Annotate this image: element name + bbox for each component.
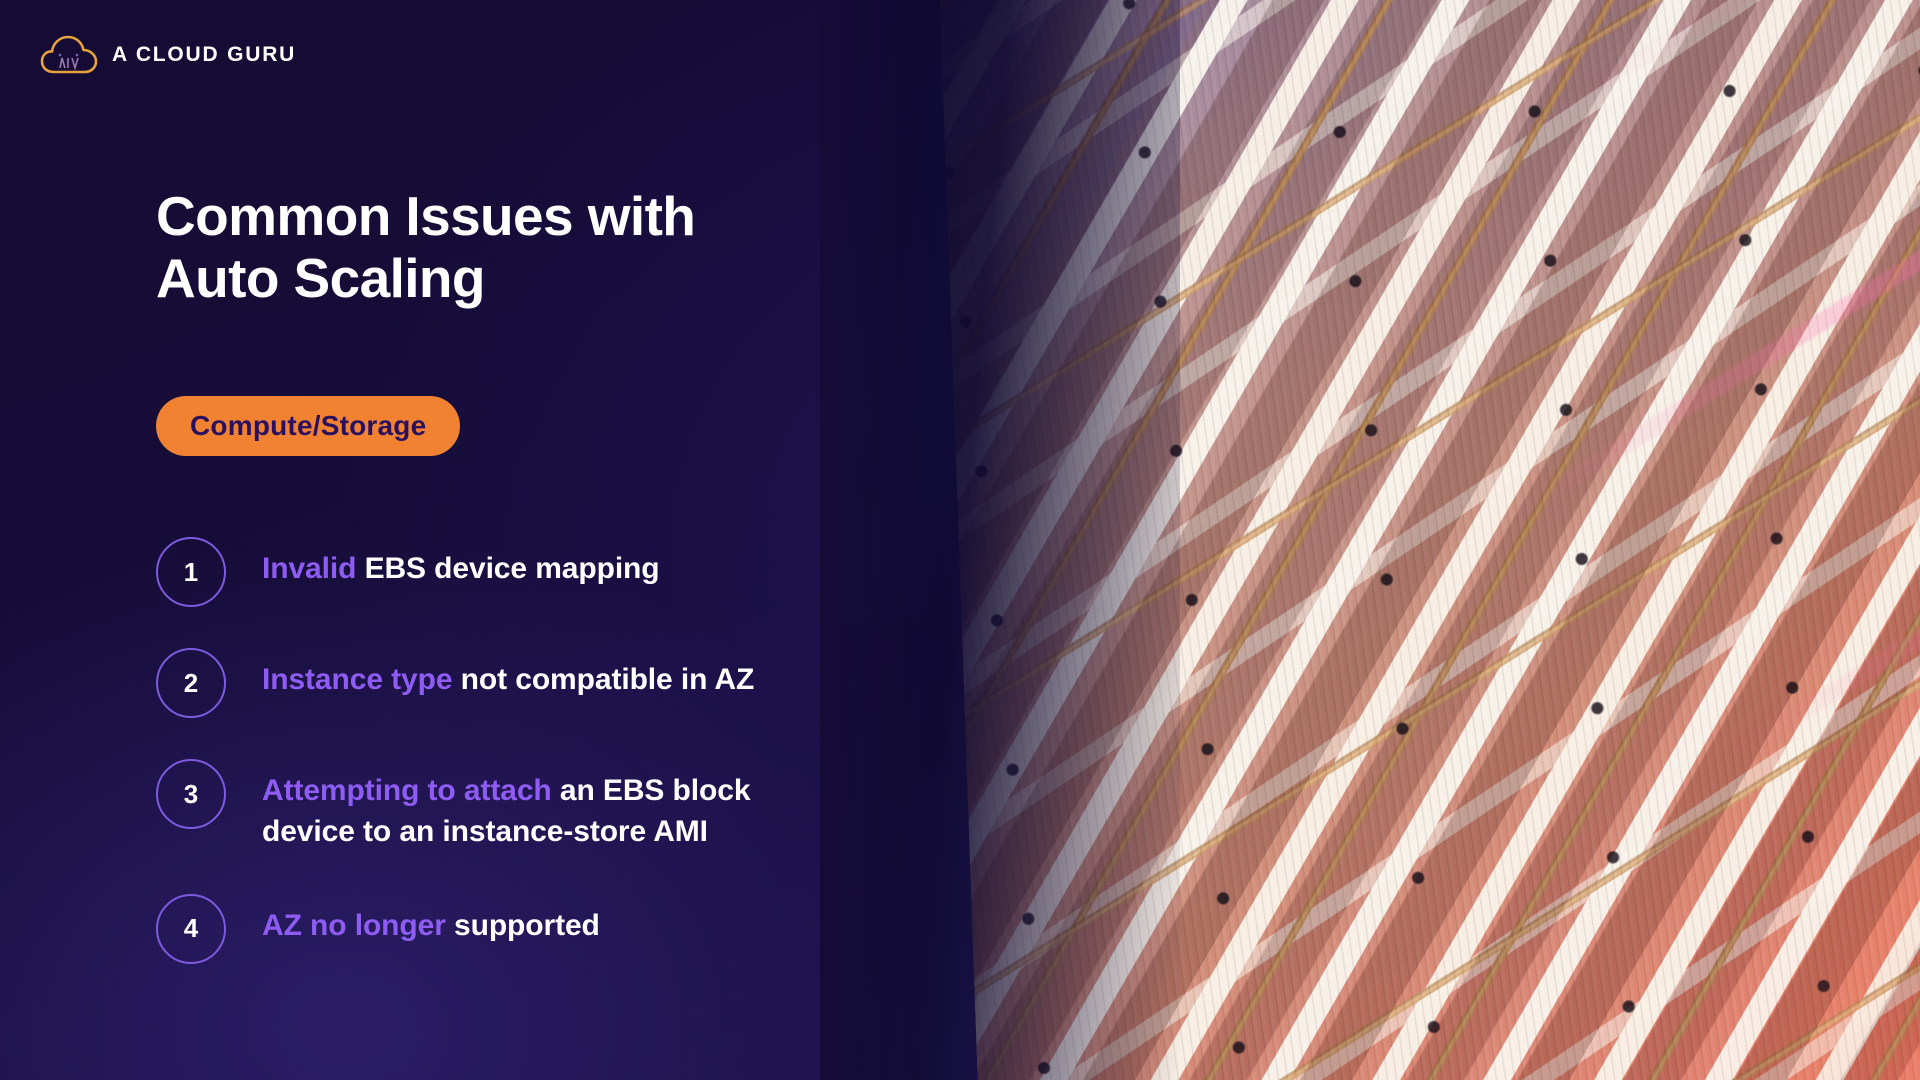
slide-content: Common Issues with Auto Scaling Compute/…: [156, 0, 916, 1080]
list-item-number: 3: [156, 759, 226, 829]
list-item: 4 AZ no longer supported: [156, 894, 916, 964]
list-item: 2 Instance type not compatible in AZ: [156, 648, 916, 718]
list-item: 3 Attempting to attach an EBS block devi…: [156, 759, 916, 853]
list-item-highlight: AZ no longer: [262, 909, 446, 942]
list-item-number: 4: [156, 894, 226, 964]
category-badge[interactable]: Compute/Storage: [156, 396, 460, 456]
issues-list: 1 Invalid EBS device mapping 2 Instance …: [156, 537, 916, 1005]
list-item-rest: EBS device mapping: [356, 552, 659, 585]
list-item-highlight: Invalid: [262, 552, 356, 585]
list-item-rest: not compatible in AZ: [452, 663, 754, 696]
list-item-text: AZ no longer supported: [262, 894, 600, 947]
page-title: Common Issues with Auto Scaling: [156, 185, 695, 309]
facade-photo: [820, 0, 1920, 1080]
list-item-number: 2: [156, 648, 226, 718]
slide-canvas: A CLOUD GURU Common Issues with Auto Sca…: [0, 0, 1920, 1080]
list-item-rest: supported: [446, 909, 600, 942]
list-item-number: 1: [156, 537, 226, 607]
list-item-text: Invalid EBS device mapping: [262, 537, 660, 590]
list-item-text: Instance type not compatible in AZ: [262, 648, 754, 701]
list-item-text: Attempting to attach an EBS block device…: [262, 759, 842, 853]
list-item-highlight: Instance type: [262, 663, 452, 696]
list-item: 1 Invalid EBS device mapping: [156, 537, 916, 607]
list-item-highlight: Attempting to attach: [262, 774, 552, 807]
cloud-icon: [40, 34, 98, 76]
